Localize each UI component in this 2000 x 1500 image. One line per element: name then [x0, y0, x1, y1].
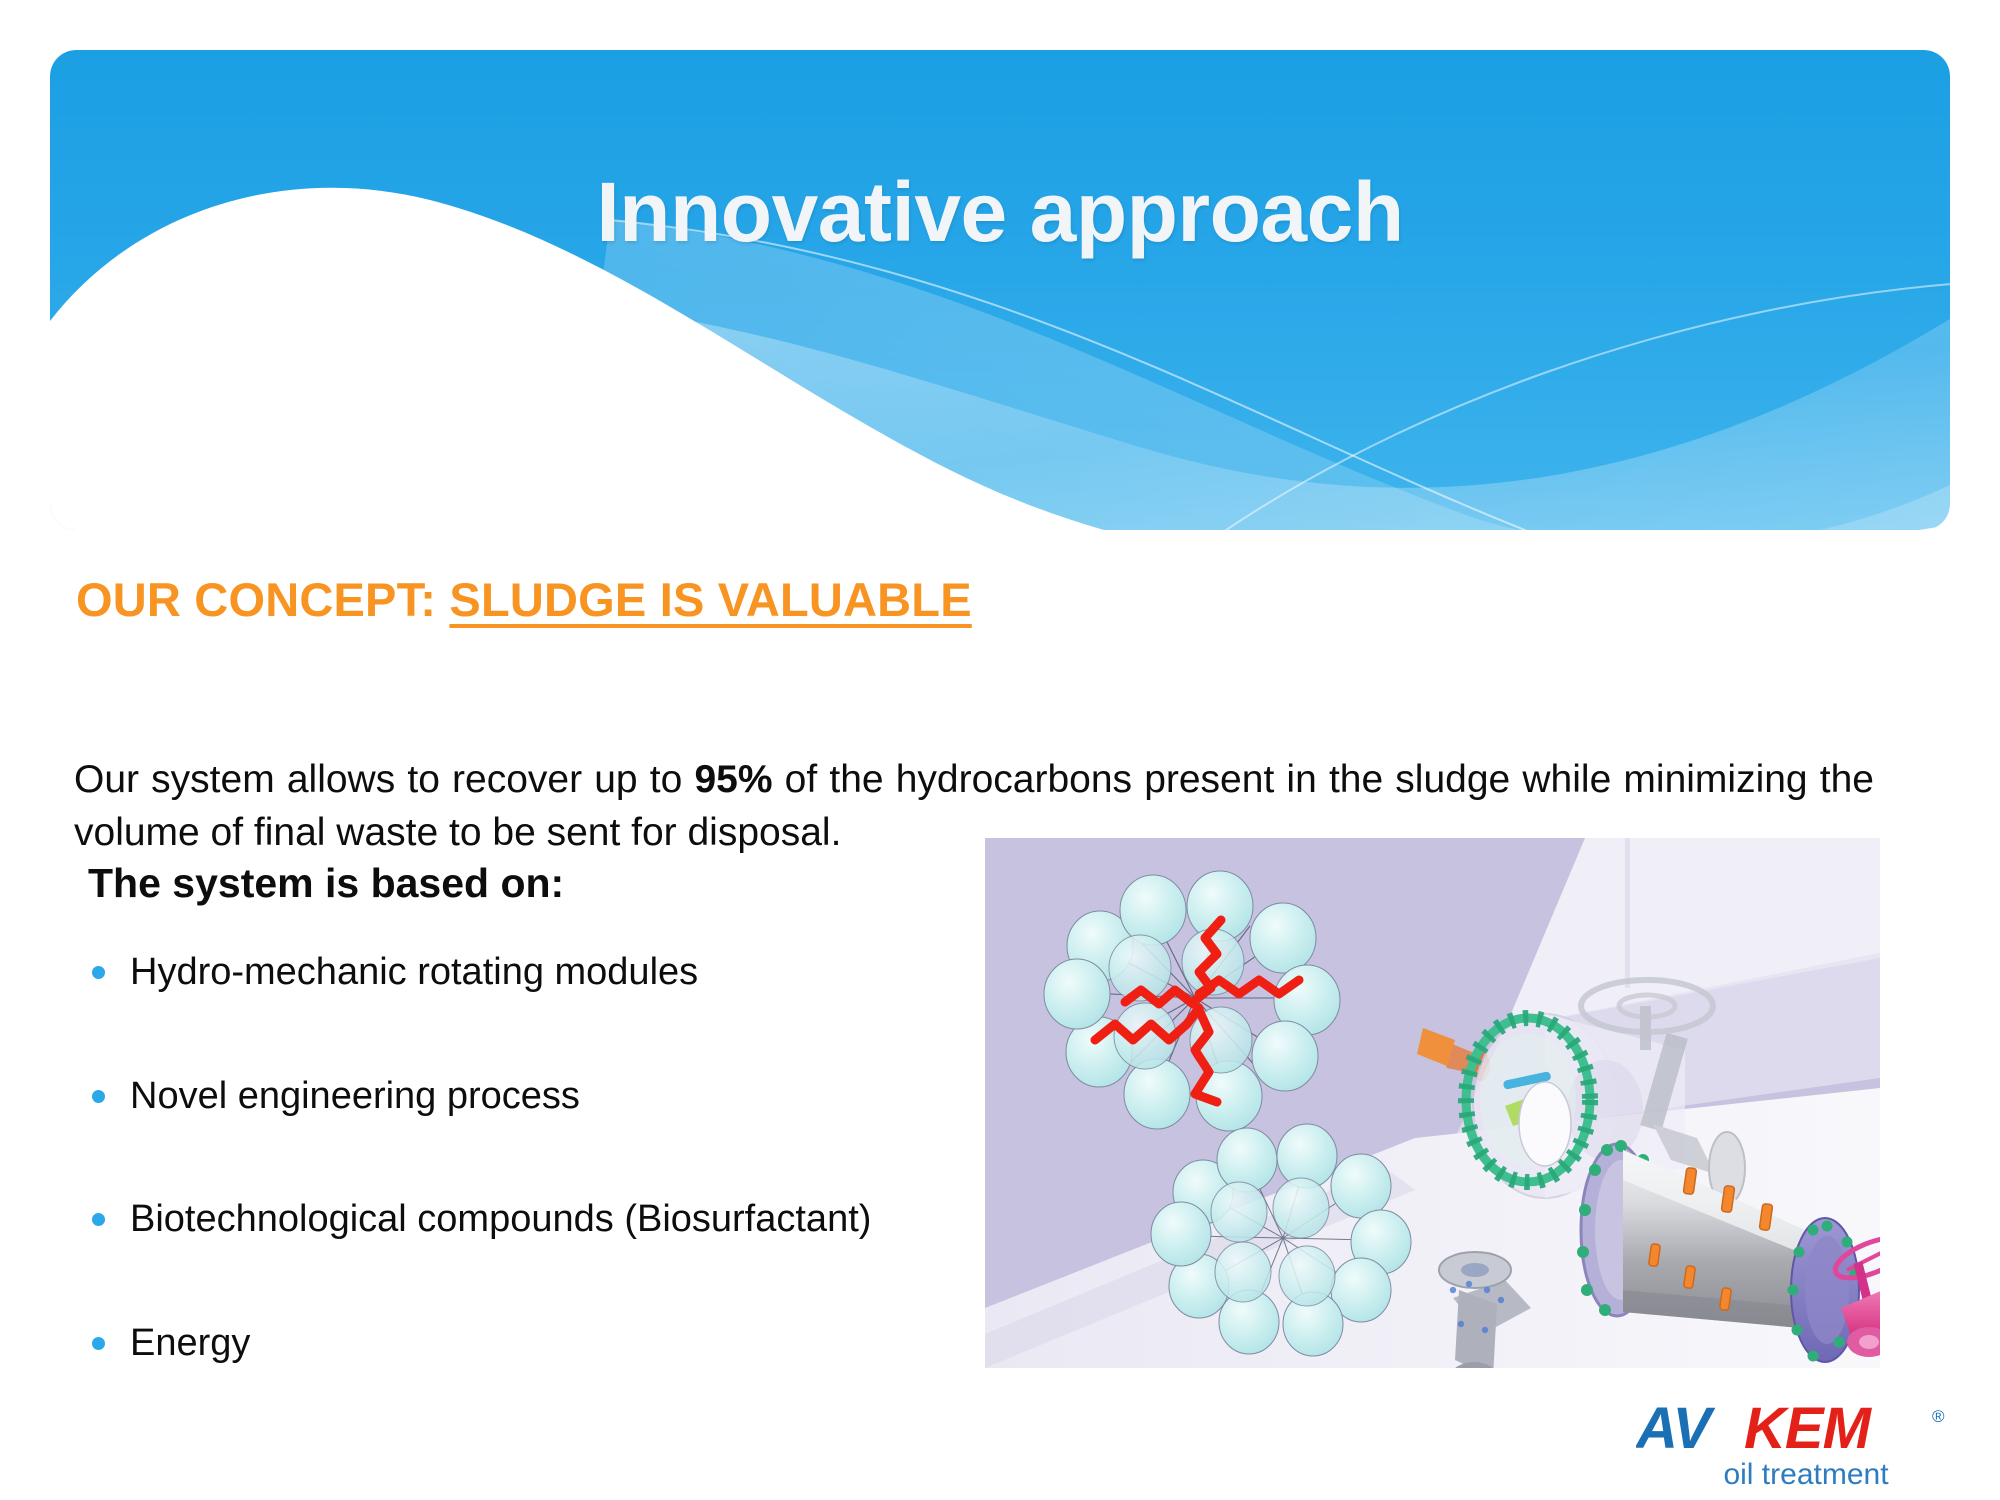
list-item-label: Energy	[130, 1322, 250, 1364]
concept-heading: OUR CONCEPT: SLUDGE IS VALUABLE	[76, 572, 972, 627]
avkem-logo-graphic: AV KEM ® oil treatment	[1636, 1398, 1966, 1490]
page-title: Innovative approach	[50, 168, 1950, 256]
concept-heading-prefix: OUR CONCEPT:	[76, 573, 449, 626]
list-item: Biotechnological compounds (Biosurfactan…	[84, 1197, 954, 1243]
avkem-logo: AV KEM ® oil treatment	[1636, 1398, 1966, 1490]
list-item-label: Biotechnological compounds (Biosurfactan…	[130, 1198, 871, 1240]
bullet-dot-icon	[92, 1337, 105, 1350]
header-banner: Innovative approach	[50, 50, 1950, 530]
bullet-dot-icon	[92, 1213, 105, 1226]
based-on-heading: The system is based on:	[88, 860, 564, 907]
intro-text-before: Our system allows to recover up to	[74, 758, 694, 801]
system-components-list: Hydro-mechanic rotating modules Novel en…	[84, 950, 954, 1444]
registered-mark: ®	[1932, 1407, 1945, 1426]
logo-tagline: oil treatment	[1723, 1458, 1889, 1490]
list-item: Hydro-mechanic rotating modules	[84, 950, 954, 996]
recovery-percentage: 95%	[694, 758, 772, 801]
process-illustration-image	[985, 838, 1880, 1368]
list-item-label: Novel engineering process	[130, 1075, 580, 1117]
list-item-label: Hydro-mechanic rotating modules	[130, 951, 698, 993]
list-item: Energy	[84, 1321, 954, 1367]
bullet-dot-icon	[92, 966, 105, 979]
banner-wave-graphic	[50, 50, 1950, 530]
logo-name-part2: KEM	[1744, 1398, 1873, 1461]
process-illustration-graphic	[985, 838, 1880, 1368]
bullet-dot-icon	[92, 1090, 105, 1103]
logo-name-part1: AV	[1636, 1398, 1716, 1461]
list-item: Novel engineering process	[84, 1074, 954, 1120]
concept-heading-emphasis: SLUDGE IS VALUABLE	[449, 573, 971, 626]
